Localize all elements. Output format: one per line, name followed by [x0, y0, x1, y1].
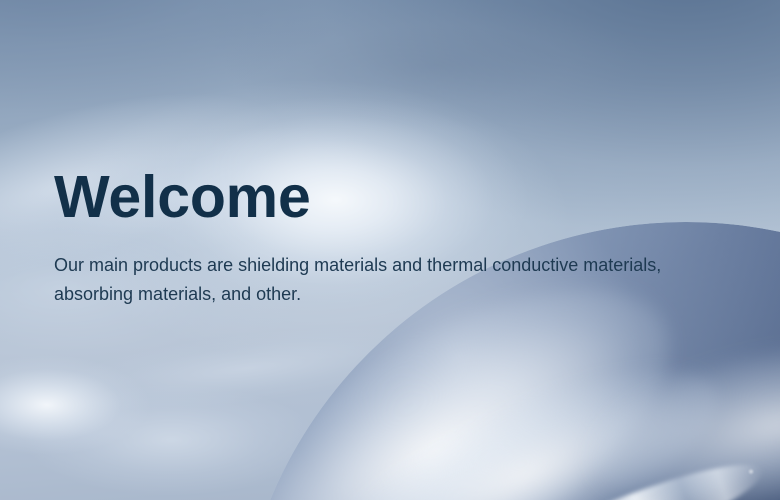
- welcome-hero-banner: Welcome Our main products are shielding …: [0, 0, 780, 500]
- page-title: Welcome: [54, 168, 714, 227]
- banner-description: Our main products are shielding material…: [54, 227, 694, 309]
- banner-content: Welcome Our main products are shielding …: [54, 168, 714, 309]
